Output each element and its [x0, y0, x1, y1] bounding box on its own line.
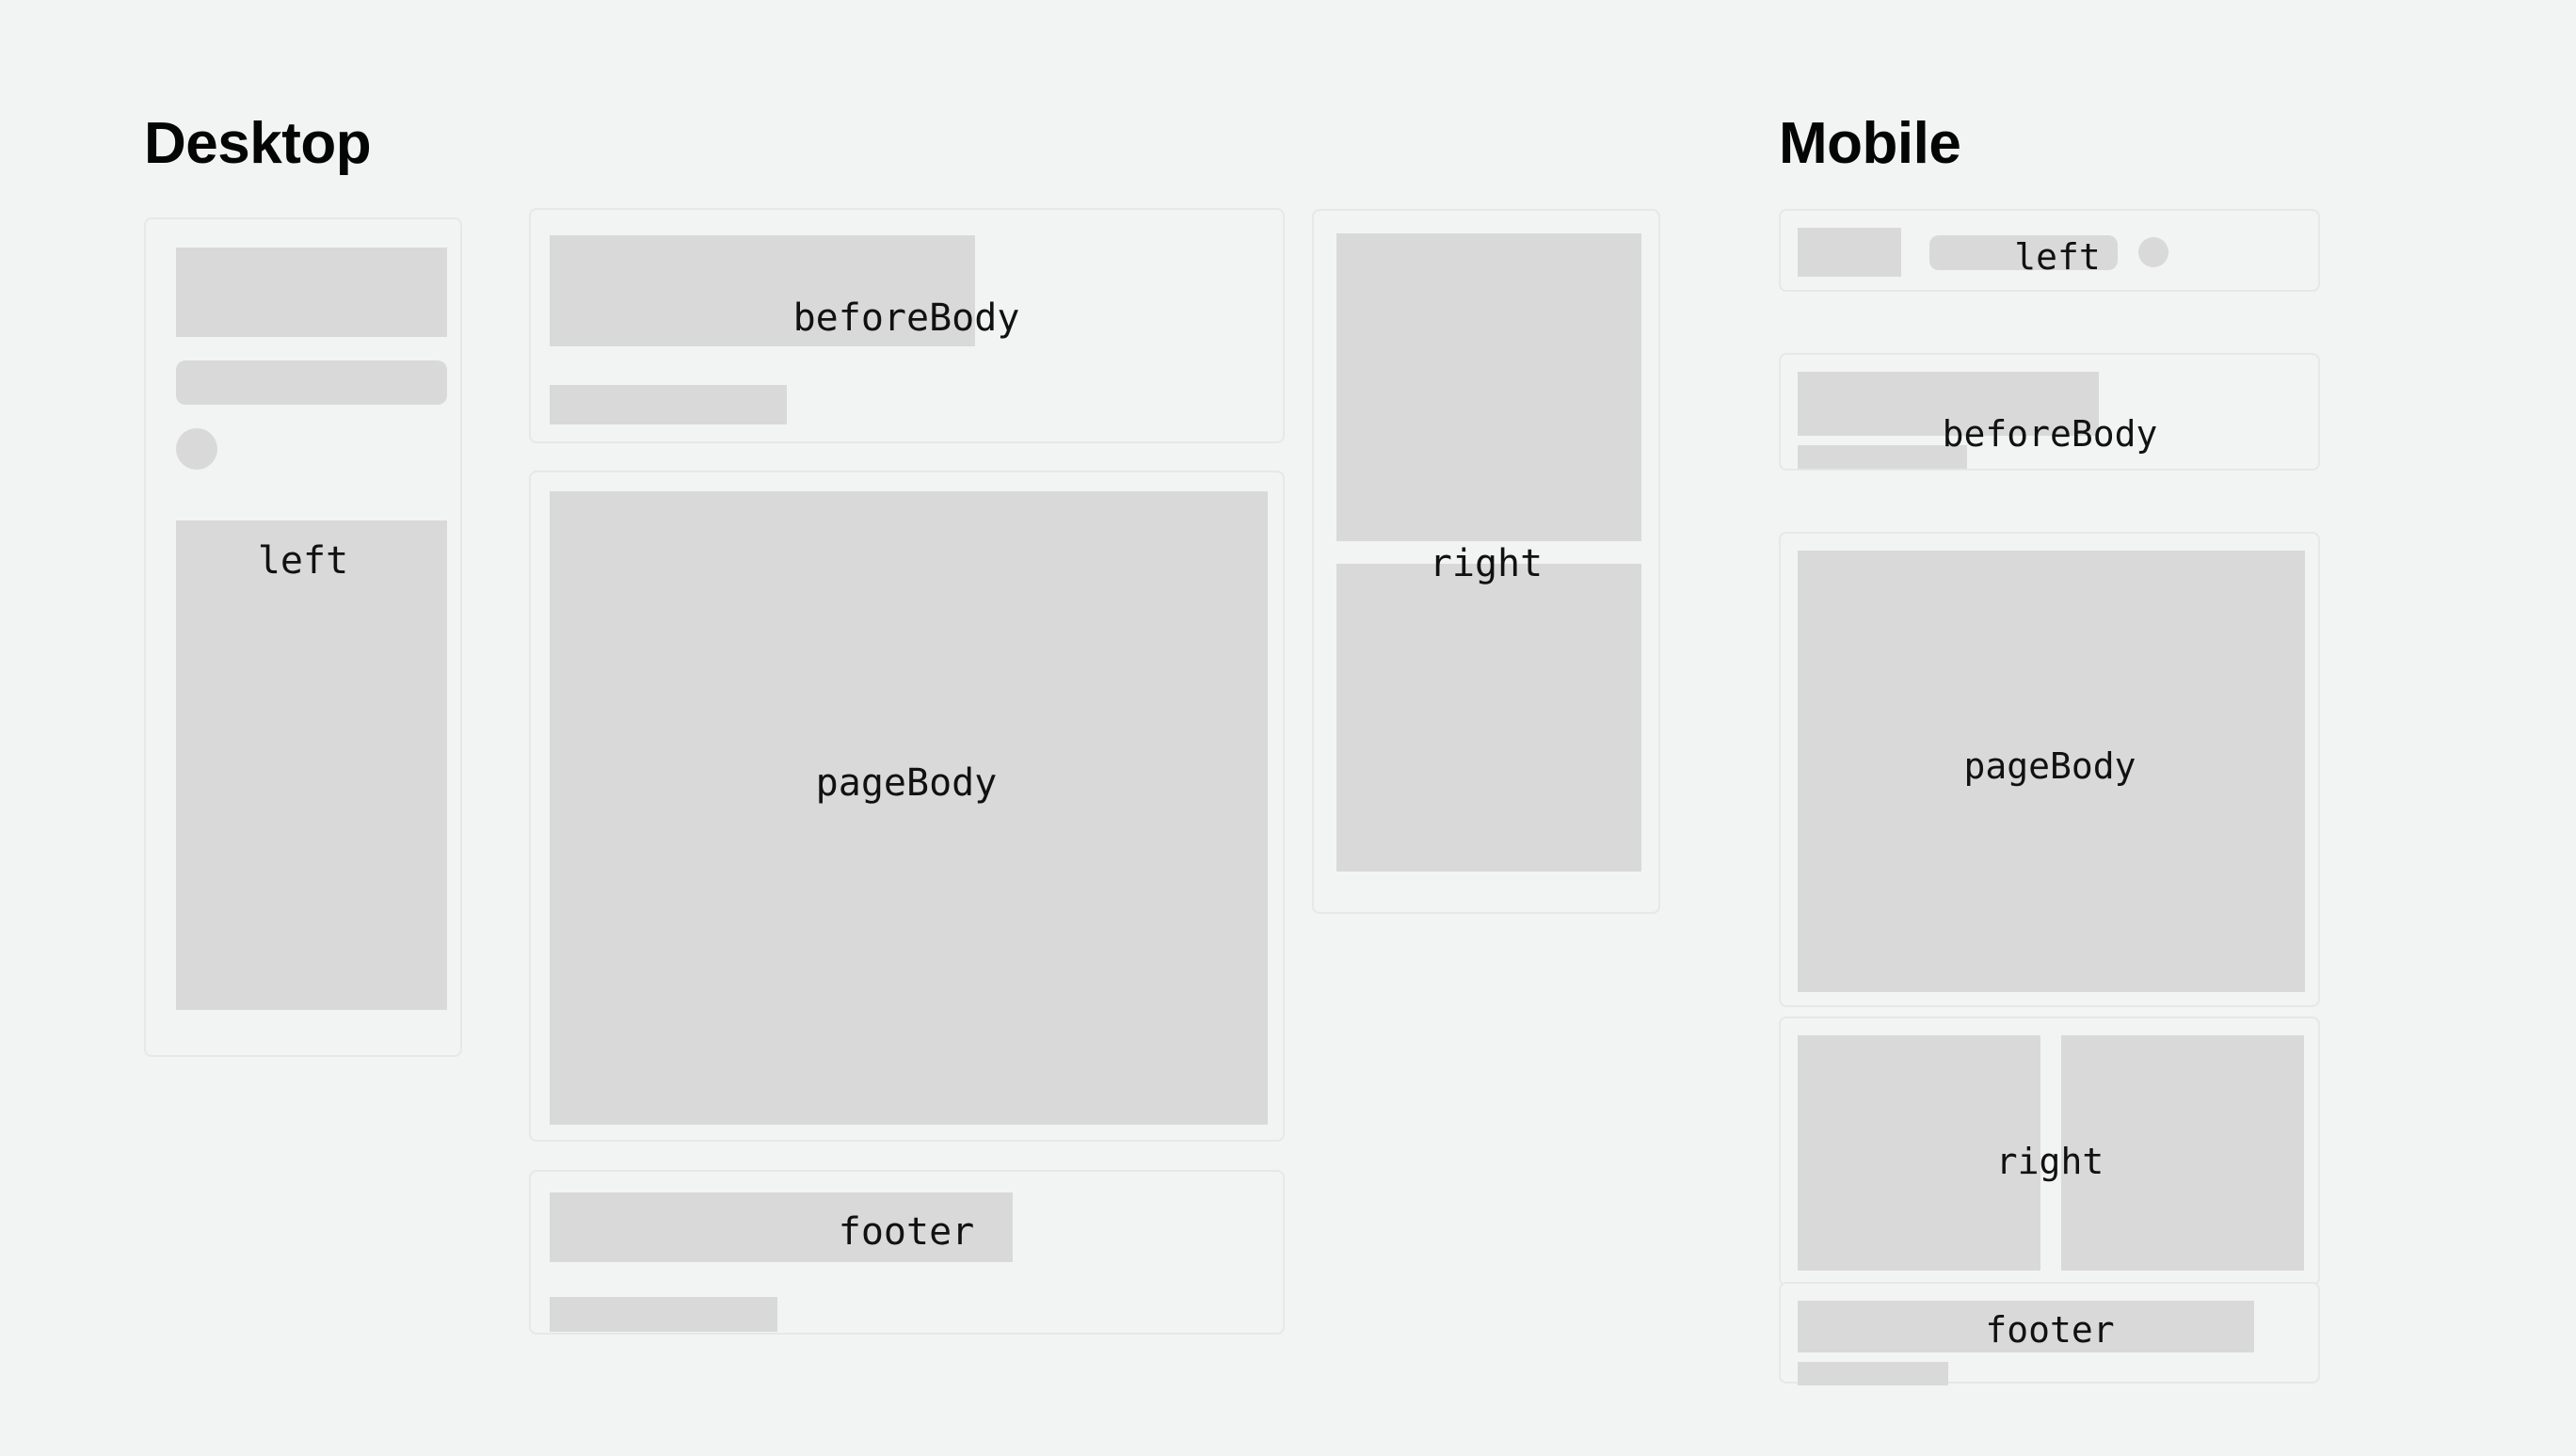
mobile-before-body-banner-block [1798, 372, 2099, 436]
mobile-footer-note-block [1798, 1362, 1948, 1385]
mobile-region-footer [1779, 1282, 2320, 1384]
desktop-before-body-caption-block [550, 385, 787, 424]
mobile-left-avatar-dot-icon [2138, 237, 2168, 267]
desktop-left-header-block [176, 248, 447, 337]
mobile-right-widget-block-right [2061, 1035, 2304, 1271]
desktop-left-nav-bar-block [176, 360, 447, 405]
mobile-page-body-main-block [1798, 551, 2305, 992]
mobile-before-body-caption-block [1798, 445, 1967, 469]
desktop-region-footer [529, 1170, 1285, 1335]
desktop-footer-bar-block [550, 1192, 1013, 1262]
mobile-region-page-body [1779, 532, 2320, 1007]
desktop-right-widget-block-top [1336, 233, 1641, 541]
desktop-left-content-block [176, 520, 447, 1010]
desktop-region-right [1312, 209, 1660, 914]
desktop-before-body-banner-block [550, 235, 975, 346]
mobile-left-nav-bar-block [1929, 235, 2118, 270]
mobile-left-header-block [1798, 228, 1901, 277]
mobile-region-before-body [1779, 353, 2320, 471]
desktop-section-heading: Desktop [144, 115, 371, 173]
mobile-right-widget-block-left [1798, 1035, 2040, 1271]
desktop-region-before-body [529, 208, 1285, 443]
desktop-right-widget-block-bottom [1336, 564, 1641, 872]
desktop-region-page-body [529, 471, 1285, 1142]
desktop-left-avatar-dot-icon [176, 428, 217, 470]
desktop-page-body-main-block [550, 491, 1268, 1125]
mobile-region-left [1779, 209, 2320, 292]
mobile-region-right [1779, 1016, 2320, 1286]
desktop-footer-note-block [550, 1297, 777, 1332]
mobile-footer-bar-block [1798, 1301, 2254, 1352]
desktop-region-left [144, 217, 462, 1057]
mobile-section-heading: Mobile [1779, 115, 1960, 173]
